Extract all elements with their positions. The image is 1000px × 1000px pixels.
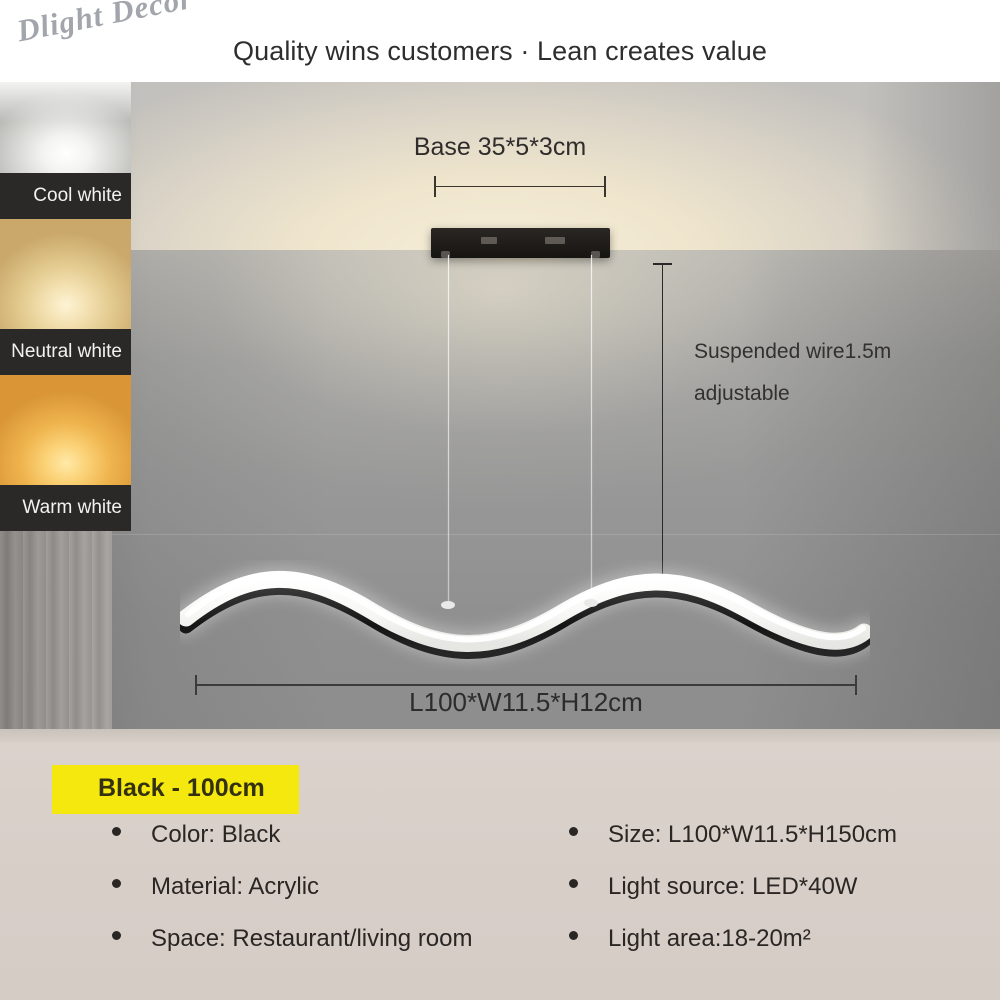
wavy-pendant-lamp xyxy=(180,560,870,670)
spec-text: Material: Acrylic xyxy=(151,873,319,901)
header-tagline: Quality wins customers · Lean creates va… xyxy=(0,36,1000,67)
bullet-icon xyxy=(569,931,578,940)
spec-text: Space: Restaurant/living room xyxy=(151,925,473,953)
suspension-wire-note: Suspended wire1.5m adjustable xyxy=(694,331,984,415)
ceiling-canopy xyxy=(431,228,610,258)
cct-option-warm-white[interactable]: Warm white xyxy=(0,375,131,531)
spec-text: Size: L100*W11.5*H150cm xyxy=(608,821,897,849)
swatch-top-fade xyxy=(0,82,131,122)
canopy-wire-anchor-right xyxy=(591,251,600,258)
floor-strip xyxy=(0,729,1000,743)
variant-badge: Black - 100cm xyxy=(52,765,299,814)
header-band: Quality wins customers · Lean creates va… xyxy=(0,0,1000,82)
spec-item: Space: Restaurant/living room xyxy=(112,925,560,977)
color-temperature-swatches: Cool white Neutral white Warm white xyxy=(0,82,131,490)
spec-item: Light area:18-20m² xyxy=(569,925,1000,977)
suspension-wire-note-line1: Suspended wire1.5m xyxy=(694,331,984,373)
neutral-white-swatch xyxy=(0,219,131,329)
warm-white-swatch xyxy=(0,375,131,485)
spec-item: Material: Acrylic xyxy=(112,873,560,925)
lamp-wire-anchor-left xyxy=(441,601,455,609)
spec-columns: Color: Black Material: Acrylic Space: Re… xyxy=(0,821,1000,977)
overall-size-label: L100*W11.5*H12cm xyxy=(195,687,857,718)
spec-item: Size: L100*W11.5*H150cm xyxy=(569,821,1000,873)
bullet-icon xyxy=(569,827,578,836)
base-dimension-bracket xyxy=(434,186,606,187)
cct-label: Warm white xyxy=(22,497,122,519)
spec-column-right: Size: L100*W11.5*H150cm Light source: LE… xyxy=(560,821,1000,977)
bullet-icon xyxy=(112,879,121,888)
cct-option-cool-white[interactable]: Cool white xyxy=(0,82,131,219)
bullet-icon xyxy=(112,931,121,940)
wall-seam-line xyxy=(0,534,1000,535)
canopy-marking xyxy=(545,237,565,244)
cct-label: Neutral white xyxy=(11,341,122,363)
cct-label-bar: Warm white xyxy=(0,485,131,531)
overall-size-dimension-line xyxy=(195,684,857,686)
spec-text: Light source: LED*40W xyxy=(608,873,857,901)
lamp-shape-svg xyxy=(180,560,870,670)
specification-panel: Black - 100cm Color: Black Material: Acr… xyxy=(0,743,1000,1000)
bullet-icon xyxy=(569,879,578,888)
spec-item: Color: Black xyxy=(112,821,560,873)
cct-option-neutral-white[interactable]: Neutral white xyxy=(0,219,131,375)
spec-column-left: Color: Black Material: Acrylic Space: Re… xyxy=(0,821,560,977)
suspension-height-dimension-line xyxy=(662,263,663,590)
base-dimension-label: Base 35*5*3cm xyxy=(0,133,1000,162)
cct-label: Cool white xyxy=(33,185,122,207)
bullet-icon xyxy=(112,827,121,836)
product-infographic: Base 35*5*3cm Suspended wire1.5m adjusta… xyxy=(0,0,1000,1000)
suspension-wire-note-line2: adjustable xyxy=(694,373,984,415)
lamp-wire-anchor-right xyxy=(584,599,598,607)
suspension-wire-right xyxy=(591,255,592,603)
suspension-wire-left xyxy=(448,255,449,607)
cct-label-bar: Cool white xyxy=(0,173,131,219)
spec-item: Light source: LED*40W xyxy=(569,873,1000,925)
cct-label-bar: Neutral white xyxy=(0,329,131,375)
cool-white-swatch xyxy=(0,82,131,173)
canopy-marking xyxy=(481,237,497,244)
spec-text: Color: Black xyxy=(151,821,280,849)
spec-text: Light area:18-20m² xyxy=(608,925,811,953)
